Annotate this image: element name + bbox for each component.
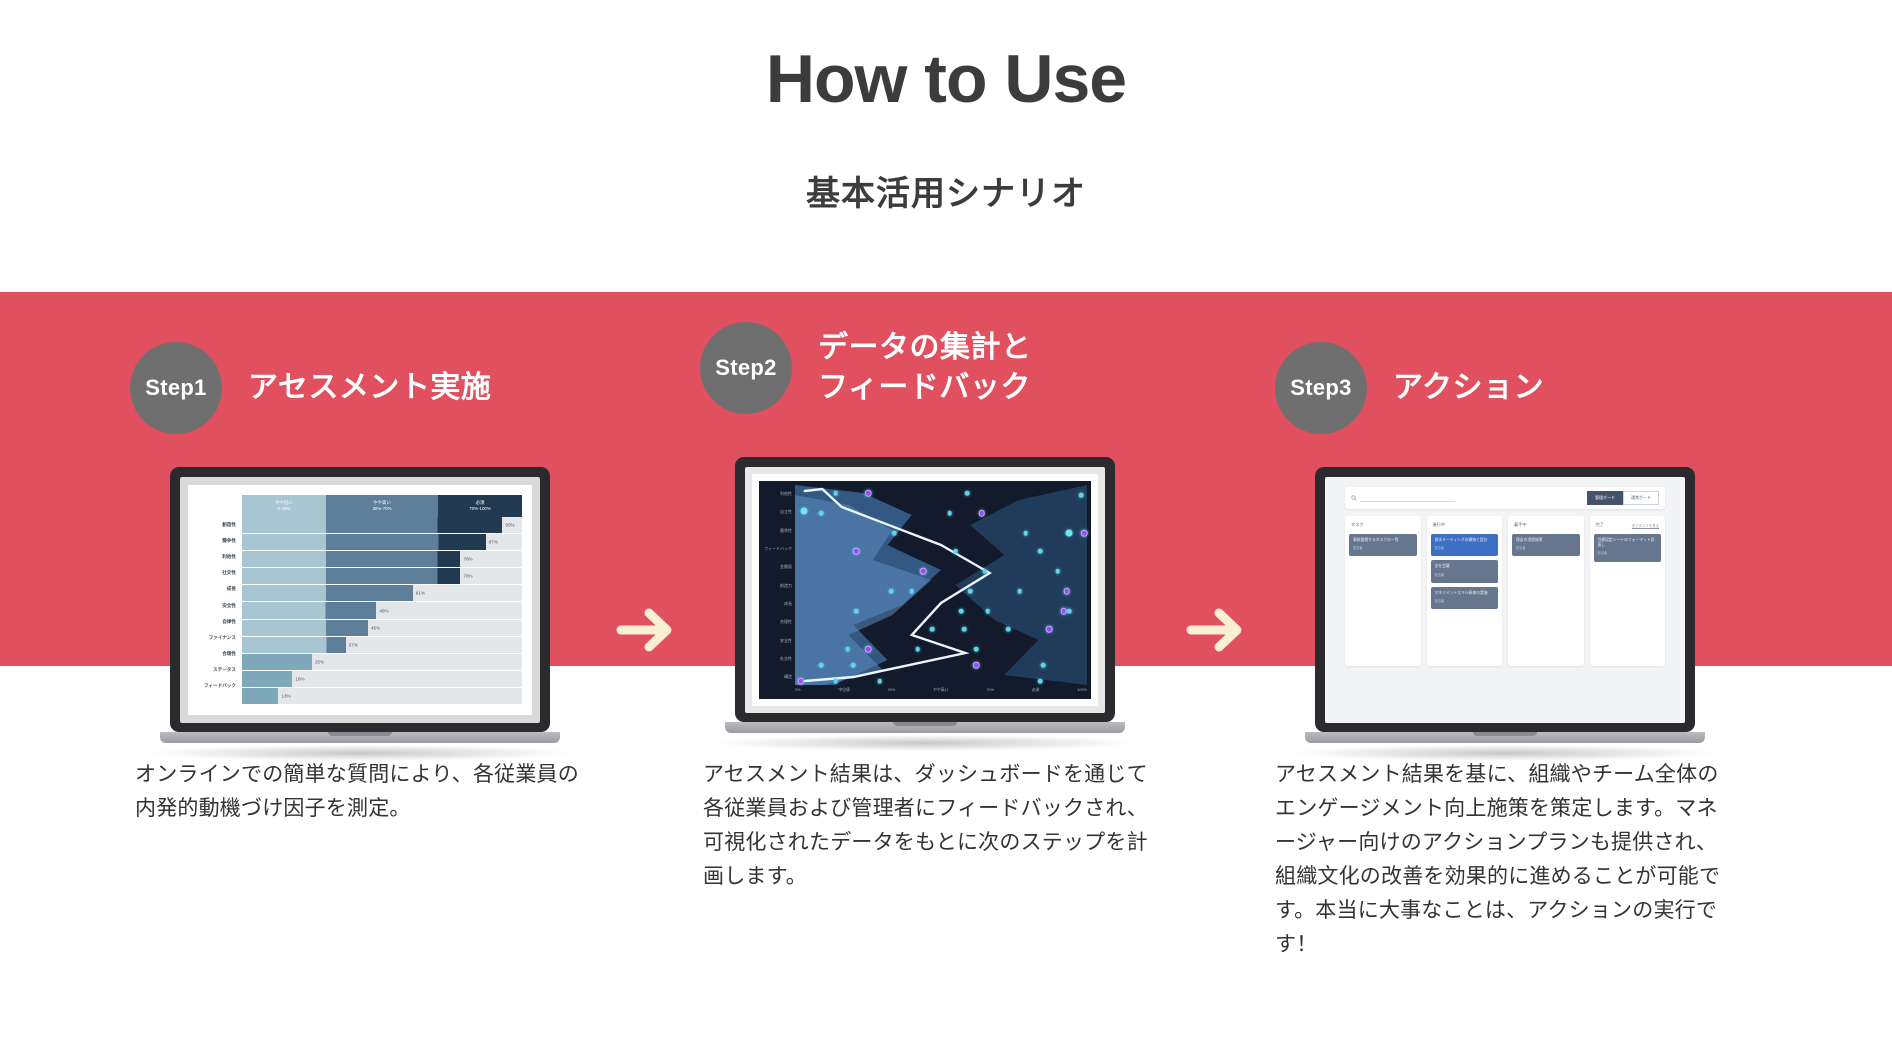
kanban-search-input[interactable] bbox=[1360, 494, 1455, 502]
kanban-card[interactable]: 週次ミーティングの開始と設計担当者 bbox=[1431, 534, 1499, 556]
bar-value-label: 18% bbox=[295, 676, 304, 681]
kanban-card-title: 理念の浸透施策 bbox=[1516, 538, 1576, 543]
band-range: 70%-100% bbox=[469, 506, 490, 512]
bar-fill bbox=[242, 671, 292, 687]
bar-row: 48% bbox=[242, 602, 522, 619]
kanban-card-assignee: 担当者 bbox=[1435, 599, 1495, 603]
bar-row: 78% bbox=[242, 568, 522, 585]
kanban-column-header: 進行中 bbox=[1431, 521, 1499, 534]
kanban-column-title: 進行中 bbox=[1433, 522, 1446, 528]
kanban-column-header: 着手中 bbox=[1512, 521, 1580, 534]
bar-label: 成長 bbox=[196, 581, 240, 597]
bar-fill bbox=[242, 534, 486, 550]
dashboard-y-label: 金銭面 bbox=[761, 558, 794, 576]
laptop-mockup-3: 管理ボード 通常ボード タスク事前整理するタスクの一覧担当者進行中週次ミーティン… bbox=[1315, 467, 1715, 761]
kanban-column[interactable]: 完了完了タスクを見る目標設定シートのフォーマット見直し担当者 bbox=[1590, 516, 1666, 666]
kanban-card-assignee: 担当者 bbox=[1516, 546, 1576, 550]
bar-row: 87% bbox=[242, 534, 522, 551]
bar-value-label: 93% bbox=[505, 523, 514, 528]
bar-label: 利他性 bbox=[196, 549, 240, 565]
laptop-screen-3: 管理ボード 通常ボード タスク事前整理するタスクの一覧担当者進行中週次ミーティン… bbox=[1325, 477, 1685, 723]
laptop-base-3 bbox=[1305, 732, 1705, 743]
bar-chart-card: 創造性 競争性 利他性 社交性 成長 安全性 自律性 ファイナンス 合理性 bbox=[188, 485, 532, 715]
step-2-heading: Step2 データの集計と フィードバック bbox=[700, 322, 1032, 414]
kanban-column-title: タスク bbox=[1351, 522, 1364, 528]
bar-value-label: 45% bbox=[371, 625, 380, 630]
bar-row: 93% bbox=[242, 517, 522, 534]
bar-chart-band-headers: やや低い 0-30% やや高い 30%-70% 必須 bbox=[242, 495, 522, 517]
kanban-card-title: 週次ミーティングの開始と設計 bbox=[1435, 538, 1495, 543]
kanban-card-assignee: 担当者 bbox=[1435, 573, 1495, 577]
dashboard-x-label: 100% bbox=[1077, 688, 1087, 698]
bar-value-label: 87% bbox=[489, 540, 498, 545]
kanban-card-assignee: 担当者 bbox=[1435, 546, 1495, 550]
bar-chart: 創造性 競争性 利他性 社交性 成長 安全性 自律性 ファイナンス 合理性 bbox=[196, 495, 524, 707]
laptop-lid-3: 管理ボード 通常ボード タスク事前整理するタスクの一覧担当者進行中週次ミーティン… bbox=[1315, 467, 1695, 732]
kanban-card[interactable]: 事前整理するタスクの一覧担当者 bbox=[1349, 534, 1417, 556]
band-header-mid: やや高い 30%-70% bbox=[326, 495, 438, 517]
bar-value-label: 48% bbox=[379, 608, 388, 613]
page-header: How to Use 基本活用シナリオ bbox=[0, 0, 1892, 292]
dashboard-y-label: 安全性 bbox=[761, 631, 794, 649]
band-header-high: 必須 70%-100% bbox=[438, 495, 522, 517]
bar-label: 合理性 bbox=[196, 646, 240, 662]
kanban-column-header: 完了完了タスクを見る bbox=[1594, 521, 1662, 534]
bar-row: 18% bbox=[242, 671, 522, 688]
dashboard-y-label: 自立性 bbox=[761, 503, 794, 521]
bar-value-label: 78% bbox=[463, 557, 472, 562]
dashboard-x-labels: 0%中位値30%やや高い70%必須100% bbox=[795, 688, 1087, 698]
dashboard-area-svg bbox=[795, 485, 1087, 685]
bar-row: 25% bbox=[242, 654, 522, 671]
bar-label: 自律性 bbox=[196, 614, 240, 630]
bar-fill bbox=[242, 602, 376, 618]
laptop-base-2 bbox=[725, 722, 1125, 733]
dashboard-plot bbox=[795, 485, 1087, 685]
arrow-right-icon bbox=[615, 598, 679, 662]
step-2-caption: アセスメント結果は、ダッシュボードを通じて各従業員および管理者にフィードバックさ… bbox=[703, 758, 1168, 894]
laptop-mockup-2: 利他性自立性競争性フィードバック金銭面創造力成長合理性安全性社交性構造 bbox=[735, 457, 1135, 751]
bar-fill bbox=[242, 517, 502, 533]
dashboard-x-label: 30% bbox=[888, 688, 896, 698]
dashboard-y-labels: 利他性自立性競争性フィードバック金銭面創造力成長合理性安全性社交性構造 bbox=[761, 485, 794, 686]
bar-row: 61% bbox=[242, 585, 522, 602]
laptop-mockup-1: 創造性 競争性 利他性 社交性 成長 安全性 自律性 ファイナンス 合理性 bbox=[170, 467, 570, 761]
bar-fill bbox=[242, 620, 368, 636]
laptop-shadow-2 bbox=[710, 735, 1140, 751]
arrow-step1-to-step2 bbox=[615, 598, 679, 662]
dashboard-screen: 利他性自立性競争性フィードバック金銭面創造力成長合理性安全性社交性構造 bbox=[745, 467, 1105, 713]
dashboard-y-label: 競争性 bbox=[761, 522, 794, 540]
kanban-card[interactable]: 理念の浸透施策担当者 bbox=[1512, 534, 1580, 556]
bar-label: 競争性 bbox=[196, 533, 240, 549]
bar-fill bbox=[242, 637, 346, 653]
dashboard-x-label: やや高い bbox=[933, 688, 948, 698]
kanban-view-toggle[interactable]: 管理ボード 通常ボード bbox=[1587, 491, 1659, 505]
bar-fill bbox=[242, 585, 413, 601]
step-3-title: アクション bbox=[1393, 368, 1544, 409]
bar-chart-y-labels: 創造性 競争性 利他性 社交性 成長 安全性 自律性 ファイナンス 合理性 bbox=[196, 495, 240, 694]
kanban-column-link[interactable]: 完了タスクを見る bbox=[1632, 523, 1659, 528]
toggle-option-admin[interactable]: 管理ボード bbox=[1587, 491, 1623, 505]
bar-fill bbox=[242, 551, 460, 567]
dashboard-y-label: 社交性 bbox=[761, 650, 794, 668]
dashboard-x-label: 必須 bbox=[1032, 688, 1040, 698]
search-icon bbox=[1351, 495, 1357, 501]
laptop-lid-1: 創造性 競争性 利他性 社交性 成長 安全性 自律性 ファイナンス 合理性 bbox=[170, 467, 550, 732]
step-1-caption: オンラインでの簡単な質問により、各従業員の内発的動機づけ因子を測定。 bbox=[135, 758, 595, 826]
laptop-screen-1: 創造性 競争性 利他性 社交性 成長 安全性 自律性 ファイナンス 合理性 bbox=[180, 477, 540, 723]
bar-value-label: 61% bbox=[416, 591, 425, 596]
bar-row: 45% bbox=[242, 620, 522, 637]
dashboard-x-label: 0% bbox=[795, 688, 801, 698]
bar-label: 創造性 bbox=[196, 517, 240, 533]
kanban-column[interactable]: 進行中週次ミーティングの開始と設計担当者全社会議担当者マネジメントスキル研修の実… bbox=[1427, 516, 1503, 666]
step-1-title: アセスメント実施 bbox=[248, 368, 491, 409]
kanban-column[interactable]: タスク事前整理するタスクの一覧担当者 bbox=[1345, 516, 1421, 666]
step-1-badge: Step1 bbox=[130, 342, 222, 434]
kanban-card[interactable]: マネジメントスキル研修の実施担当者 bbox=[1431, 587, 1499, 609]
bar-fill bbox=[242, 688, 278, 704]
kanban-columns: タスク事前整理するタスクの一覧担当者進行中週次ミーティングの開始と設計担当者全社… bbox=[1333, 516, 1677, 666]
laptop-base-1 bbox=[160, 732, 560, 743]
bar-value-label: 25% bbox=[315, 659, 324, 664]
step-3-badge: Step3 bbox=[1275, 342, 1367, 434]
dashboard-y-label: フィードバック bbox=[761, 540, 794, 558]
dashboard-y-label: 利他性 bbox=[761, 485, 794, 503]
bar-row: 78% bbox=[242, 551, 522, 568]
bar-chart-rows: 93%87%78%78%61%48%45%37%25%18%13% bbox=[242, 517, 522, 705]
band-header-low: やや低い 0-30% bbox=[242, 495, 326, 517]
dashboard-x-label: 70% bbox=[986, 688, 994, 698]
bar-label: フィードバック bbox=[196, 678, 240, 694]
kanban-column-title: 完了 bbox=[1596, 522, 1604, 528]
bar-fill bbox=[242, 568, 460, 584]
kanban-column-header: タスク bbox=[1349, 521, 1417, 534]
kanban-card-title: 目標設定シートのフォーマット見直し bbox=[1598, 538, 1658, 548]
step-2-badge: Step2 bbox=[700, 322, 792, 414]
dashboard-y-label: 成長 bbox=[761, 595, 794, 613]
kanban-card-title: 全社会議 bbox=[1435, 564, 1495, 569]
bar-label: 社交性 bbox=[196, 565, 240, 581]
bar-row: 37% bbox=[242, 637, 522, 654]
bar-label: ファイナンス bbox=[196, 630, 240, 646]
bar-label: 安全性 bbox=[196, 597, 240, 613]
kanban-column[interactable]: 着手中理念の浸透施策担当者 bbox=[1508, 516, 1584, 666]
kanban-card-assignee: 担当者 bbox=[1353, 546, 1413, 550]
bar-value-label: 13% bbox=[281, 693, 290, 698]
kanban-card[interactable]: 全社会議担当者 bbox=[1431, 560, 1499, 582]
band-range: 30%-70% bbox=[372, 506, 391, 512]
step-3-caption: アセスメント結果を基に、組織やチーム全体のエンゲージメント向上施策を策定します。… bbox=[1275, 758, 1735, 962]
bar-fill bbox=[242, 654, 312, 670]
bar-label: ステータス bbox=[196, 662, 240, 678]
dashboard-y-label: 創造力 bbox=[761, 576, 794, 594]
kanban-card-title: マネジメントスキル研修の実施 bbox=[1435, 591, 1495, 596]
steps-row: Step1 アセスメント実施 創造性 競争性 利他性 bbox=[0, 292, 1892, 752]
kanban-card-title: 事前整理するタスクの一覧 bbox=[1353, 538, 1413, 543]
step-1-heading: Step1 アセスメント実施 bbox=[130, 342, 491, 434]
kanban-column-title: 着手中 bbox=[1514, 522, 1527, 528]
laptop-lid-2: 利他性自立性競争性フィードバック金銭面創造力成長合理性安全性社交性構造 bbox=[735, 457, 1115, 722]
kanban-search[interactable] bbox=[1351, 494, 1587, 502]
dashboard-x-label: 中位値 bbox=[838, 688, 849, 698]
dashboard-y-label: 合理性 bbox=[761, 613, 794, 631]
dark-scatter-chart: 利他性自立性競争性フィードバック金銭面創造力成長合理性安全性社交性構造 bbox=[759, 481, 1091, 699]
page-subtitle: 基本活用シナリオ bbox=[0, 172, 1892, 216]
arrow-step2-to-step3 bbox=[1185, 598, 1249, 662]
kanban-card-assignee: 担当者 bbox=[1598, 551, 1658, 555]
kanban-card[interactable]: 目標設定シートのフォーマット見直し担当者 bbox=[1594, 534, 1662, 562]
dashboard-card: 利他性自立性競争性フィードバック金銭面創造力成長合理性安全性社交性構造 bbox=[752, 474, 1098, 706]
bar-value-label: 37% bbox=[349, 642, 358, 647]
arrow-right-icon bbox=[1185, 598, 1249, 662]
kanban-toolbar: 管理ボード 通常ボード bbox=[1345, 487, 1665, 509]
step-2-title: データの集計と フィードバック bbox=[818, 328, 1032, 409]
laptop-screen-2: 利他性自立性競争性フィードバック金銭面創造力成長合理性安全性社交性構造 bbox=[745, 467, 1105, 713]
bar-row: 13% bbox=[242, 688, 522, 705]
bar-value-label: 78% bbox=[463, 574, 472, 579]
toggle-option-normal[interactable]: 通常ボード bbox=[1623, 491, 1659, 505]
dashboard-y-label: 構造 bbox=[761, 668, 794, 686]
bar-chart-screen: 創造性 競争性 利他性 社交性 成長 安全性 自律性 ファイナンス 合理性 bbox=[180, 477, 540, 723]
page-title: How to Use bbox=[0, 38, 1892, 120]
step-3-heading: Step3 アクション bbox=[1275, 342, 1544, 434]
band-range: 0-30% bbox=[278, 506, 291, 512]
kanban-screen: 管理ボード 通常ボード タスク事前整理するタスクの一覧担当者進行中週次ミーティン… bbox=[1325, 477, 1685, 723]
bar-chart-plot: やや低い 0-30% やや高い 30%-70% 必須 bbox=[242, 495, 522, 707]
